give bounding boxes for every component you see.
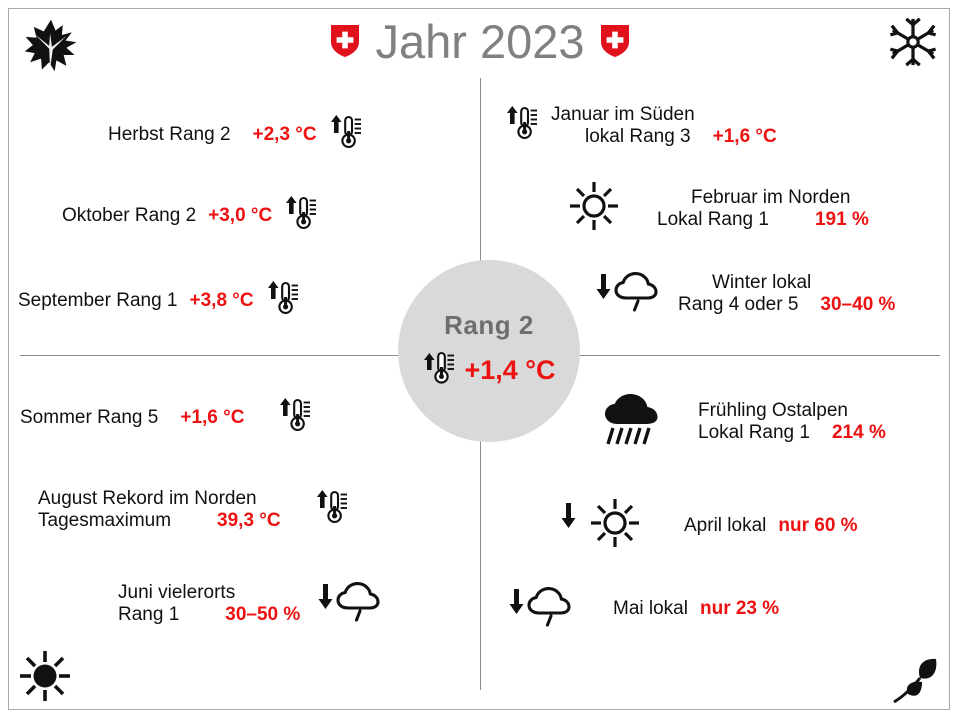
climate-summary-figure: Jahr 2023 bbox=[0, 0, 960, 720]
thermometer-up-icon bbox=[422, 349, 456, 392]
stat-mai: Mai lokal nur 23 % bbox=[503, 583, 779, 634]
stat-value: 191 % bbox=[815, 209, 869, 231]
stat-label: Sommer Rang 5 bbox=[20, 407, 158, 429]
stat-februar: Februar im Norden Lokal Rang 1 191 % bbox=[565, 178, 869, 239]
stat-label: Winter lokal bbox=[712, 272, 811, 294]
stat-value: +3,8 °C bbox=[190, 290, 254, 312]
stat-fruehling: Frühling Ostalpen Lokal Rang 1 214 % bbox=[598, 388, 886, 455]
stat-oktober-text: Oktober Rang 2 +3,0 °C bbox=[62, 205, 272, 227]
cloud-down-icon bbox=[503, 583, 579, 634]
cloud-down-icon bbox=[312, 578, 388, 629]
stat-value: 214 % bbox=[832, 422, 886, 444]
stat-august-text: August Rekord im Norden Tagesmaximum 39,… bbox=[38, 488, 281, 532]
sun-down-icon bbox=[558, 495, 650, 556]
page-title: Jahr 2023 bbox=[375, 18, 584, 65]
thermometer-up-icon bbox=[284, 193, 318, 238]
stat-label: September Rang 1 bbox=[18, 290, 178, 312]
swiss-coat-of-arms-icon-left bbox=[329, 23, 361, 59]
snowflake-icon bbox=[888, 16, 938, 73]
stat-label: Rang 1 bbox=[118, 604, 179, 626]
center-value: +1,4 °C bbox=[464, 355, 555, 386]
stat-juni: Juni vielerorts Rang 1 30–50 % bbox=[118, 578, 388, 629]
thermometer-up-icon bbox=[505, 103, 539, 148]
stat-value: 30–50 % bbox=[225, 604, 300, 626]
stat-label: Januar im Süden bbox=[551, 104, 695, 126]
stat-value: 39,3 °C bbox=[217, 510, 281, 532]
stat-herbst: Herbst Rang 2 +2,3 °C bbox=[108, 112, 363, 157]
stat-label: Mai lokal bbox=[613, 598, 688, 620]
stat-juni-text: Juni vielerorts Rang 1 30–50 % bbox=[118, 582, 300, 626]
stat-label: Februar im Norden bbox=[691, 187, 850, 209]
stat-september: September Rang 1 +3,8 °C bbox=[18, 278, 300, 323]
stat-januar: Januar im Süden lokal Rang 3 +1,6 °C bbox=[505, 103, 777, 148]
stat-april-text: April lokal nur 60 % bbox=[684, 515, 858, 537]
stat-value: +3,0 °C bbox=[208, 205, 272, 227]
swiss-coat-of-arms-icon-right bbox=[599, 23, 631, 59]
center-summary-circle: Rang 2 +1,4 °C bbox=[398, 260, 580, 442]
stat-september-text: September Rang 1 +3,8 °C bbox=[18, 290, 254, 312]
stat-label: Herbst Rang 2 bbox=[108, 124, 231, 146]
cloud-down-icon bbox=[590, 268, 666, 319]
stat-februar-text: Februar im Norden Lokal Rang 1 191 % bbox=[657, 187, 869, 231]
stat-oktober: Oktober Rang 2 +3,0 °C bbox=[62, 193, 318, 238]
stat-label: Frühling Ostalpen bbox=[698, 400, 848, 422]
stat-mai-text: Mai lokal nur 23 % bbox=[613, 598, 779, 620]
rain-cloud-filled-icon bbox=[598, 388, 664, 455]
thermometer-up-icon bbox=[329, 112, 363, 157]
maple-leaf-icon bbox=[22, 16, 80, 79]
center-value-row: +1,4 °C bbox=[422, 349, 555, 392]
stat-fruehling-text: Frühling Ostalpen Lokal Rang 1 214 % bbox=[698, 400, 886, 444]
stat-sommer-text: Sommer Rang 5 +1,6 °C bbox=[20, 407, 244, 429]
sun-outline-icon bbox=[565, 178, 623, 239]
stat-value: +1,6 °C bbox=[180, 407, 244, 429]
stat-winter-text: Winter lokal Rang 4 oder 5 30–40 % bbox=[678, 272, 895, 316]
stat-value: +1,6 °C bbox=[713, 126, 777, 148]
stat-sommer: Sommer Rang 5 +1,6 °C bbox=[20, 395, 312, 440]
sun-filled-icon bbox=[16, 648, 74, 709]
stat-winter: Winter lokal Rang 4 oder 5 30–40 % bbox=[590, 268, 895, 319]
stat-april: April lokal nur 60 % bbox=[558, 495, 858, 556]
stat-label: Oktober Rang 2 bbox=[62, 205, 196, 227]
stat-value: nur 23 % bbox=[700, 598, 779, 620]
stat-label: Lokal Rang 1 bbox=[657, 209, 769, 231]
thermometer-up-icon bbox=[266, 278, 300, 323]
stat-label: lokal Rang 3 bbox=[585, 126, 691, 148]
stat-label: Juni vielerorts bbox=[118, 582, 235, 604]
stat-label: Lokal Rang 1 bbox=[698, 422, 810, 444]
stat-herbst-text: Herbst Rang 2 +2,3 °C bbox=[108, 124, 317, 146]
stat-label: Tagesmaximum bbox=[38, 510, 171, 532]
stat-label: Rang 4 oder 5 bbox=[678, 294, 798, 316]
stat-value: nur 60 % bbox=[778, 515, 857, 537]
stat-value: 30–40 % bbox=[820, 294, 895, 316]
stat-januar-text: Januar im Süden lokal Rang 3 +1,6 °C bbox=[551, 104, 777, 148]
stat-august: August Rekord im Norden Tagesmaximum 39,… bbox=[38, 487, 349, 532]
center-rank-label: Rang 2 bbox=[444, 310, 534, 341]
thermometer-up-icon bbox=[278, 395, 312, 440]
leaf-sprig-icon bbox=[890, 656, 942, 711]
stat-label: August Rekord im Norden bbox=[38, 488, 257, 510]
stat-label: April lokal bbox=[684, 515, 766, 537]
thermometer-up-icon bbox=[315, 487, 349, 532]
stat-value: +2,3 °C bbox=[253, 124, 317, 146]
figure-header: Jahr 2023 bbox=[0, 6, 960, 76]
